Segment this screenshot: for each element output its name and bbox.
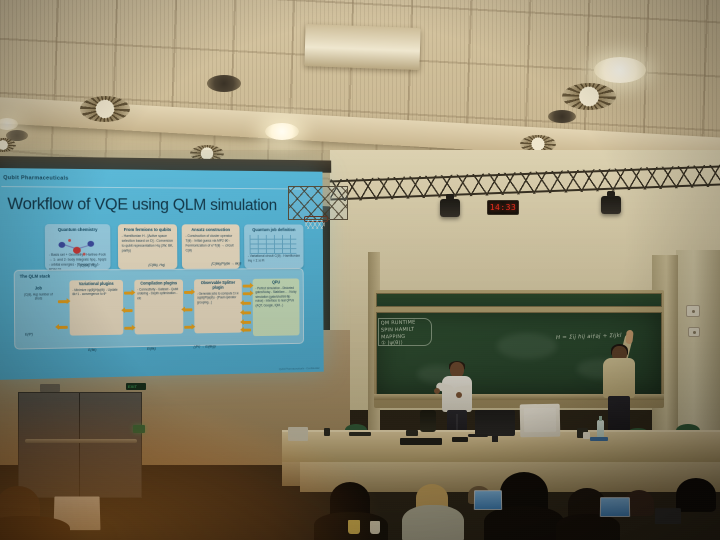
flow-arrow-icon (243, 311, 251, 314)
audience-laptop (474, 490, 502, 510)
paper-stack (288, 427, 308, 441)
block-bullets: - Generate jobs to compute Σi λi ⟨ψ(θ)|P… (197, 291, 239, 304)
molecule-icon (55, 238, 101, 256)
stage-laptop (520, 404, 561, 438)
flow-arrow-icon (243, 329, 251, 332)
slide-header: Qubit Pharmaceuticals (3, 175, 68, 182)
air-diffuser-icon (562, 83, 616, 110)
slide-header-rule (1, 186, 310, 189)
stack-edge-label: (C(θk), Hq) (80, 263, 97, 267)
wall-socket-icon (686, 305, 700, 317)
flow-arrow-icon (243, 302, 251, 305)
downlight-icon (594, 57, 646, 83)
monitor-base (468, 434, 488, 437)
door-leaf-right[interactable] (81, 393, 141, 497)
block-title: Variational plugins (72, 282, 120, 287)
foreground-shoulders (0, 516, 70, 540)
stack-block-compilation-plugins: Compilation plugins - Connectivity - Gat… (134, 279, 183, 334)
exit-sign-icon (133, 425, 145, 433)
exit-sign-label: EXIT (128, 384, 137, 389)
ceiling-vent-icon (6, 130, 28, 141)
block-bullets: (C(θ), Hq) number of shots (22, 292, 55, 301)
blackboard-upper-panel (376, 293, 662, 307)
flow-arrow-icon (184, 326, 192, 329)
wall-socket-icon (688, 327, 700, 337)
ceiling-vent-icon (207, 75, 241, 92)
box-bullets: - Hamiltonian H - [Active space selectio… (122, 234, 174, 254)
block-title: Compilation plugins (137, 281, 180, 286)
stage-spotlight-icon (601, 196, 621, 214)
stack-edge-label: (C(θk), Hq) (148, 263, 165, 267)
net (305, 220, 325, 229)
backboard (288, 186, 348, 220)
audience-laptop (600, 497, 630, 517)
monitor-icon (475, 410, 515, 436)
block-title: Job (22, 286, 55, 291)
stack-edge-label: E(θk) (88, 348, 96, 352)
box-bullets: - Variational circuit C(θ) - Hamiltonian… (248, 253, 300, 263)
stage-spotlight-icon (440, 199, 460, 217)
ceiling-light-fixture (304, 24, 420, 70)
ceiling-vent-icon (548, 110, 576, 123)
audience-shoulders (484, 506, 564, 540)
air-diffuser-icon (80, 96, 130, 122)
audience-person (676, 478, 716, 512)
coffee-cup-icon (348, 520, 360, 534)
flow-arrow-icon (184, 308, 192, 311)
slide-surface: Qubit Pharmaceuticals Workflow of VQE us… (0, 168, 324, 380)
slide-box-quantum-chemistry: Quantum chemistry - Basis set + Geometry… (45, 224, 111, 270)
cup-icon (583, 432, 590, 439)
block-bullets: - Connectivity - Gateset - Qubit orderin… (137, 287, 180, 301)
stack-edge-label: [C(θk)(Pi)(θk → θk)]i (211, 262, 241, 266)
writer-person (600, 336, 640, 440)
door-push-bar[interactable] (25, 439, 137, 443)
quantum-circuit-icon (250, 235, 297, 254)
digital-clock: 14:33 (487, 200, 519, 215)
exit-door[interactable] (18, 392, 142, 498)
flow-arrow-icon (124, 327, 133, 330)
projection-screen: Qubit Pharmaceuticals Workflow of VQE us… (0, 168, 324, 380)
stack-block-job: Job (C(θ), Hq) number of shots (19, 284, 58, 324)
keyboard-icon (400, 438, 442, 445)
flow-arrow-icon (58, 300, 68, 303)
stack-block-qpu: QPU - Perfect simulation - Distorted gat… (253, 278, 300, 336)
flow-arrow-icon (124, 309, 133, 312)
audience-shoulders (556, 514, 620, 540)
audience-laptop (655, 508, 681, 524)
blackboard-text-left: QM RUNTIME SPIN HAMILT MAPPING ① |ψ(θ)⟩ (381, 320, 416, 348)
presenter-hand (434, 388, 440, 394)
flow-arrow-icon (58, 326, 68, 329)
stack-title: The QLM stack (20, 274, 51, 279)
desk-device (324, 428, 330, 436)
flow-arrow-icon (124, 292, 133, 295)
stage-desk (282, 432, 720, 464)
basketball-hoop-icon (288, 186, 350, 234)
stack-edge-label: Ei(θk) (147, 347, 156, 351)
flow-arrow-icon (243, 292, 251, 295)
stack-block-variational-plugins: Variational plugins - Minimize ⟨ψ(θ)|H|ψ… (69, 280, 123, 336)
flow-arrow-icon (184, 291, 192, 294)
writer-sweater (603, 358, 635, 398)
desk-device (349, 432, 371, 436)
box-bullets: - Construction of cluster operator T(θ) … (185, 234, 236, 254)
block-title: Observable Splitter plugin (197, 281, 239, 291)
slide-footer: Qubit Pharmaceuticals - Confidential (279, 366, 319, 371)
box-title: Ansatz construction (185, 227, 236, 232)
block-bullets: - Perfect simulation - Distorted gates/N… (255, 286, 296, 308)
slide-title: Workflow of VQE using QLM simulation (7, 194, 277, 215)
door-leaf-left[interactable] (19, 393, 80, 497)
box-title: Quantum chemistry (49, 227, 107, 232)
desk-cable (590, 437, 608, 441)
flow-arrow-icon (243, 285, 251, 288)
downlight-icon (265, 123, 299, 140)
water-bottle-icon (597, 420, 604, 438)
stack-edge-label: (⟨Pi⟩ → Ei(θk))i (194, 345, 216, 349)
lecture-hall-photo: 14:33 Qubit Pharmaceuticals Workflow of … (0, 0, 720, 540)
door-closer-icon (40, 384, 60, 392)
clock-time: 14:33 (490, 203, 517, 212)
presenter-person (440, 362, 474, 440)
desk-device (406, 430, 418, 436)
flow-arrow-icon (243, 321, 251, 324)
stack-block-observable-splitter: Observable Splitter plugin - Generate jo… (194, 279, 242, 333)
audience-shoulders (402, 505, 464, 540)
block-title: QPU (255, 280, 296, 285)
stack-edge-label: E(θ*) (25, 332, 33, 336)
presenter-hand (456, 392, 462, 398)
mouse-icon (452, 437, 468, 442)
exit-sign-overhead: EXIT (126, 383, 146, 390)
writer-hand (625, 330, 633, 345)
slide-qlm-stack: The QLM stack Job (C(θ), Hq) number of s… (14, 268, 304, 350)
box-title: From fermions to qubits (122, 227, 174, 232)
coffee-cup-icon (370, 521, 380, 534)
block-bullets: - Minimize ⟨ψ(θ)|H|ψ(θ)⟩ - Update θk+1 -… (72, 288, 120, 297)
speaker-icon (420, 410, 436, 432)
